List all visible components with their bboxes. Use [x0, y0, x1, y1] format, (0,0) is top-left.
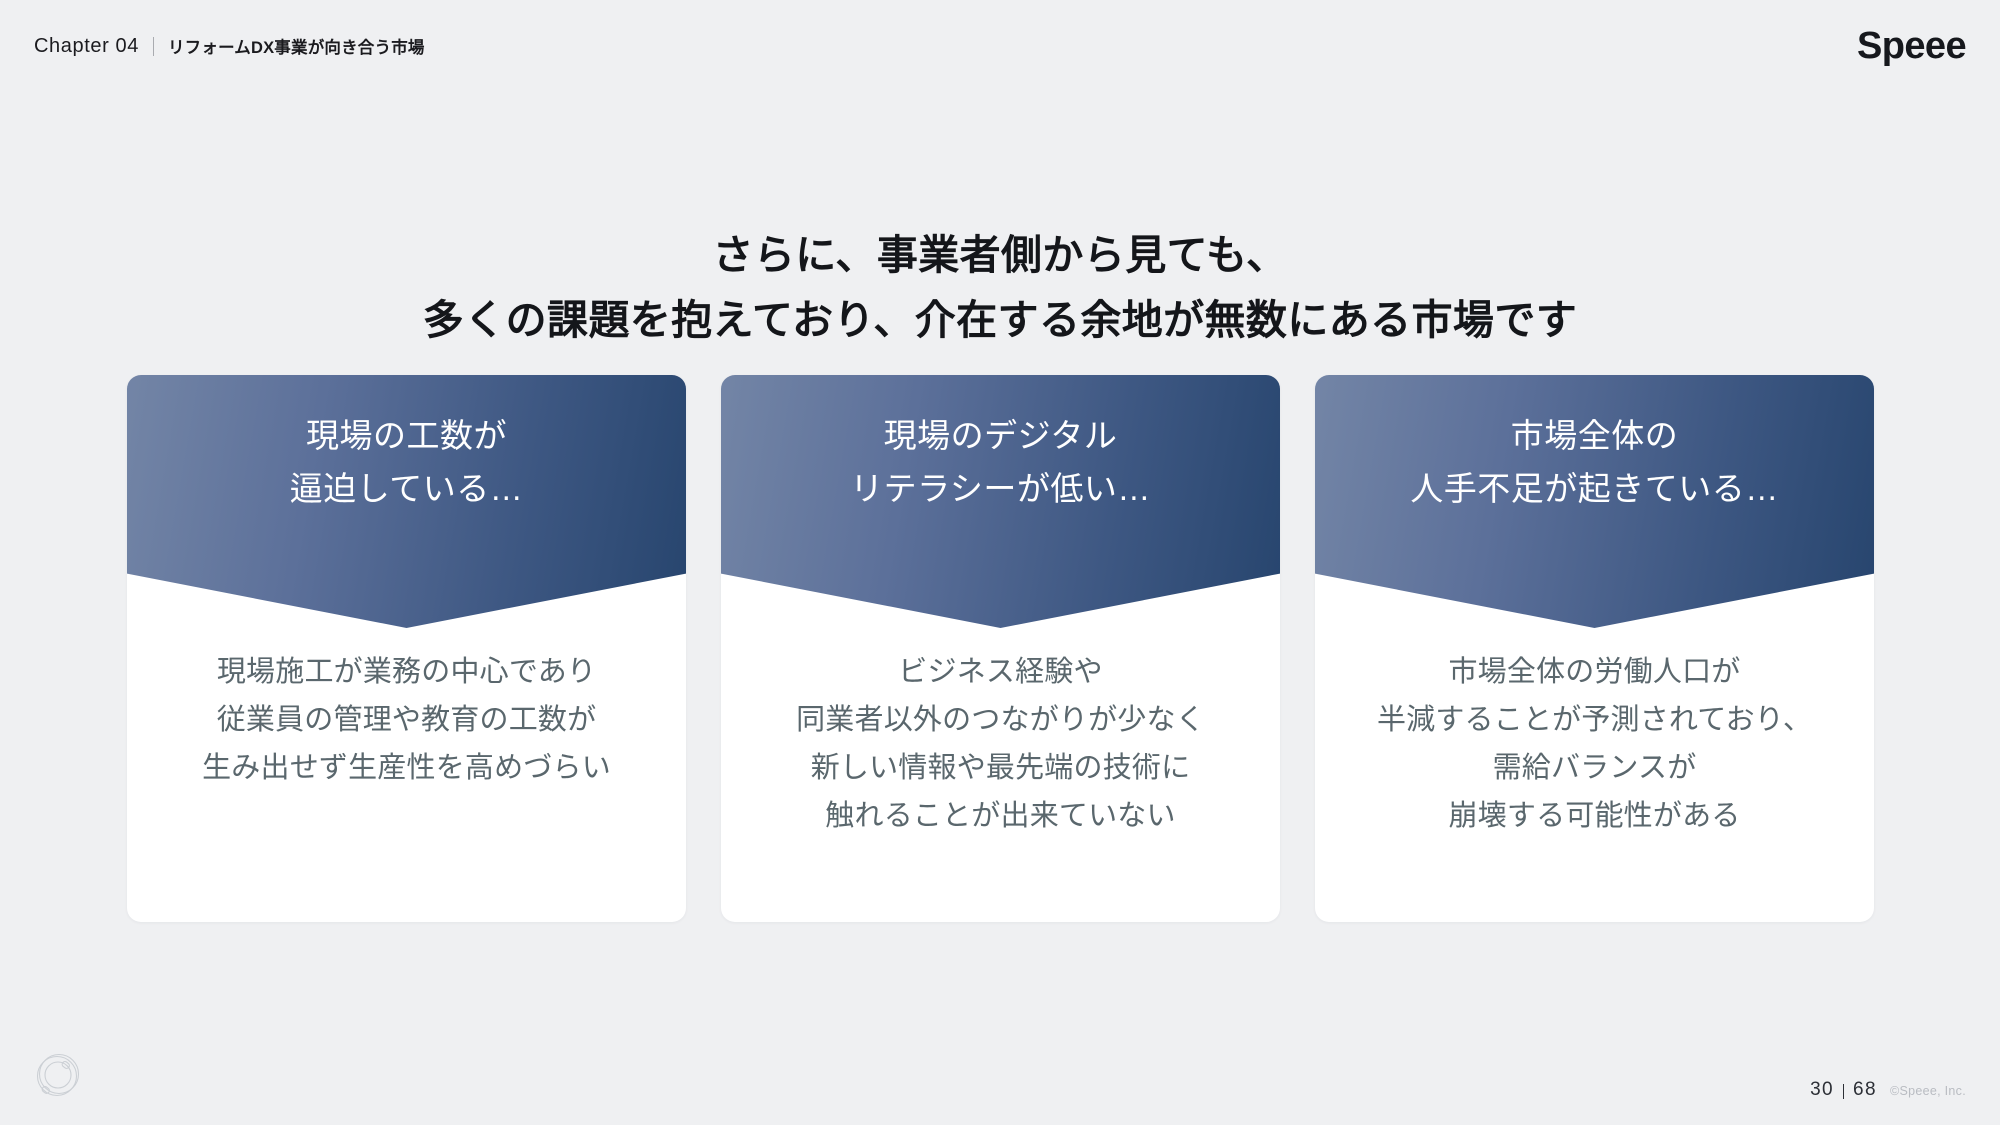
page-number-divider [1843, 1084, 1844, 1099]
issue-card-1-description-line-2: 従業員の管理や教育の工数が [202, 696, 611, 744]
issue-card-3-heading: 市場全体の 人手不足が起きている… [1410, 409, 1779, 516]
issue-card-1-header: 現場の工数が 逼迫している… [127, 375, 686, 628]
copyright-text: ©Speee, Inc. [1890, 1084, 1966, 1098]
issue-card-3-description-line-4: 崩壊する可能性がある [1377, 792, 1812, 840]
issue-card-2-description-line-4: 触れることが出来ていない [796, 792, 1205, 840]
issue-card-3-description-line-3: 需給バランスが [1377, 744, 1812, 792]
issue-card-2: 現場のデジタル リテラシーが低い… ビジネス経験や 同業者以外のつながりが少なく… [721, 375, 1280, 922]
issue-card-3-heading-line-1: 市場全体の [1410, 409, 1779, 462]
issue-card-1-description-line-3: 生み出せず生産性を高めづらい [202, 744, 611, 792]
issue-card-1-description-line-1: 現場施工が業務の中心であり [202, 648, 611, 696]
issue-card-2-body: ビジネス経験や 同業者以外のつながりが少なく 新しい情報や最先端の技術に 触れる… [721, 628, 1280, 922]
issue-card-2-description: ビジネス経験や 同業者以外のつながりが少なく 新しい情報や最先端の技術に 触れる… [796, 648, 1205, 841]
chapter-title: リフォームDX事業が向き合う市場 [168, 34, 425, 58]
breadcrumb-divider [153, 37, 154, 56]
issue-card-1-heading-line-1: 現場の工数が [290, 409, 524, 462]
issue-card-3-description: 市場全体の労働人口が 半減することが予測されており、 需給バランスが 崩壊する可… [1377, 648, 1812, 841]
issue-card-3-header: 市場全体の 人手不足が起きている… [1315, 375, 1874, 628]
issue-card-1-heading-line-2: 逼迫している… [290, 462, 524, 515]
page-title: さらに、事業者側から見ても、 多くの課題を抱えており、介在する余地が無数にある市… [0, 223, 2000, 353]
issue-card-2-heading-line-2: リテラシーが低い… [850, 462, 1151, 515]
issue-card-2-heading: 現場のデジタル リテラシーが低い… [850, 409, 1151, 516]
breadcrumb: Chapter 04 リフォームDX事業が向き合う市場 [34, 34, 425, 58]
issue-card-2-description-line-3: 新しい情報や最先端の技術に [796, 744, 1205, 792]
issue-card-group: 現場の工数が 逼迫している… 現場施工が業務の中心であり 従業員の管理や教育の工… [127, 375, 1874, 922]
issue-card-3-body: 市場全体の労働人口が 半減することが予測されており、 需給バランスが 崩壊する可… [1315, 628, 1874, 922]
issue-card-2-description-line-2: 同業者以外のつながりが少なく [796, 696, 1205, 744]
issue-card-1-description: 現場施工が業務の中心であり 従業員の管理や教育の工数が 生み出せず生産性を高めづ… [202, 648, 611, 792]
issue-card-2-description-line-1: ビジネス経験や [796, 648, 1205, 696]
issue-card-1: 現場の工数が 逼迫している… 現場施工が業務の中心であり 従業員の管理や教育の工… [127, 375, 686, 922]
page-title-line-1: さらに、事業者側から見ても、 [0, 223, 2000, 288]
issue-card-3-description-line-2: 半減することが予測されており、 [1377, 696, 1812, 744]
issue-card-2-header: 現場のデジタル リテラシーが低い… [721, 375, 1280, 628]
page-number-total: 68 [1853, 1079, 1877, 1101]
page-title-line-2: 多くの課題を抱えており、介在する余地が無数にある市場です [0, 288, 2000, 353]
page-number-current: 30 [1810, 1079, 1834, 1101]
speee-wordmark-logo: Speee [1857, 27, 1966, 65]
slide-header: Chapter 04 リフォームDX事業が向き合う市場 Speee [0, 0, 2000, 92]
page-footer: 30 68 ©Speee, Inc. [1810, 1079, 1966, 1101]
speee-ring-watermark-icon [30, 1047, 86, 1103]
issue-card-1-body: 現場施工が業務の中心であり 従業員の管理や教育の工数が 生み出せず生産性を高めづ… [127, 628, 686, 922]
page-indicator: 30 68 [1810, 1079, 1877, 1101]
issue-card-3-heading-line-2: 人手不足が起きている… [1410, 462, 1779, 515]
issue-card-1-heading: 現場の工数が 逼迫している… [290, 409, 524, 516]
issue-card-2-heading-line-1: 現場のデジタル [850, 409, 1151, 462]
issue-card-3-description-line-1: 市場全体の労働人口が [1377, 648, 1812, 696]
issue-card-3: 市場全体の 人手不足が起きている… 市場全体の労働人口が 半減することが予測され… [1315, 375, 1874, 922]
chapter-label: Chapter 04 [34, 35, 139, 58]
